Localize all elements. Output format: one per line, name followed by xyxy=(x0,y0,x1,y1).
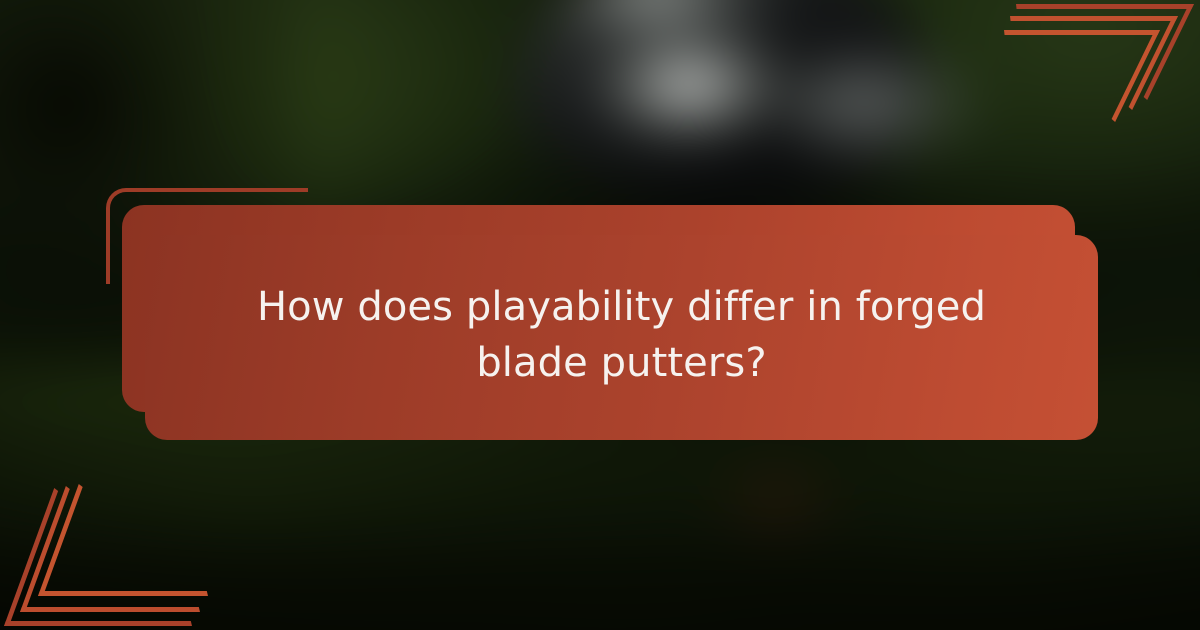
question-title: How does playability differ in forged bl… xyxy=(242,280,1002,394)
background-vignette-bottom xyxy=(0,410,1200,630)
og-card-canvas: How does playability differ in forged bl… xyxy=(0,0,1200,630)
club-head-highlight xyxy=(777,46,995,172)
question-card: How does playability differ in forged bl… xyxy=(145,235,1098,440)
